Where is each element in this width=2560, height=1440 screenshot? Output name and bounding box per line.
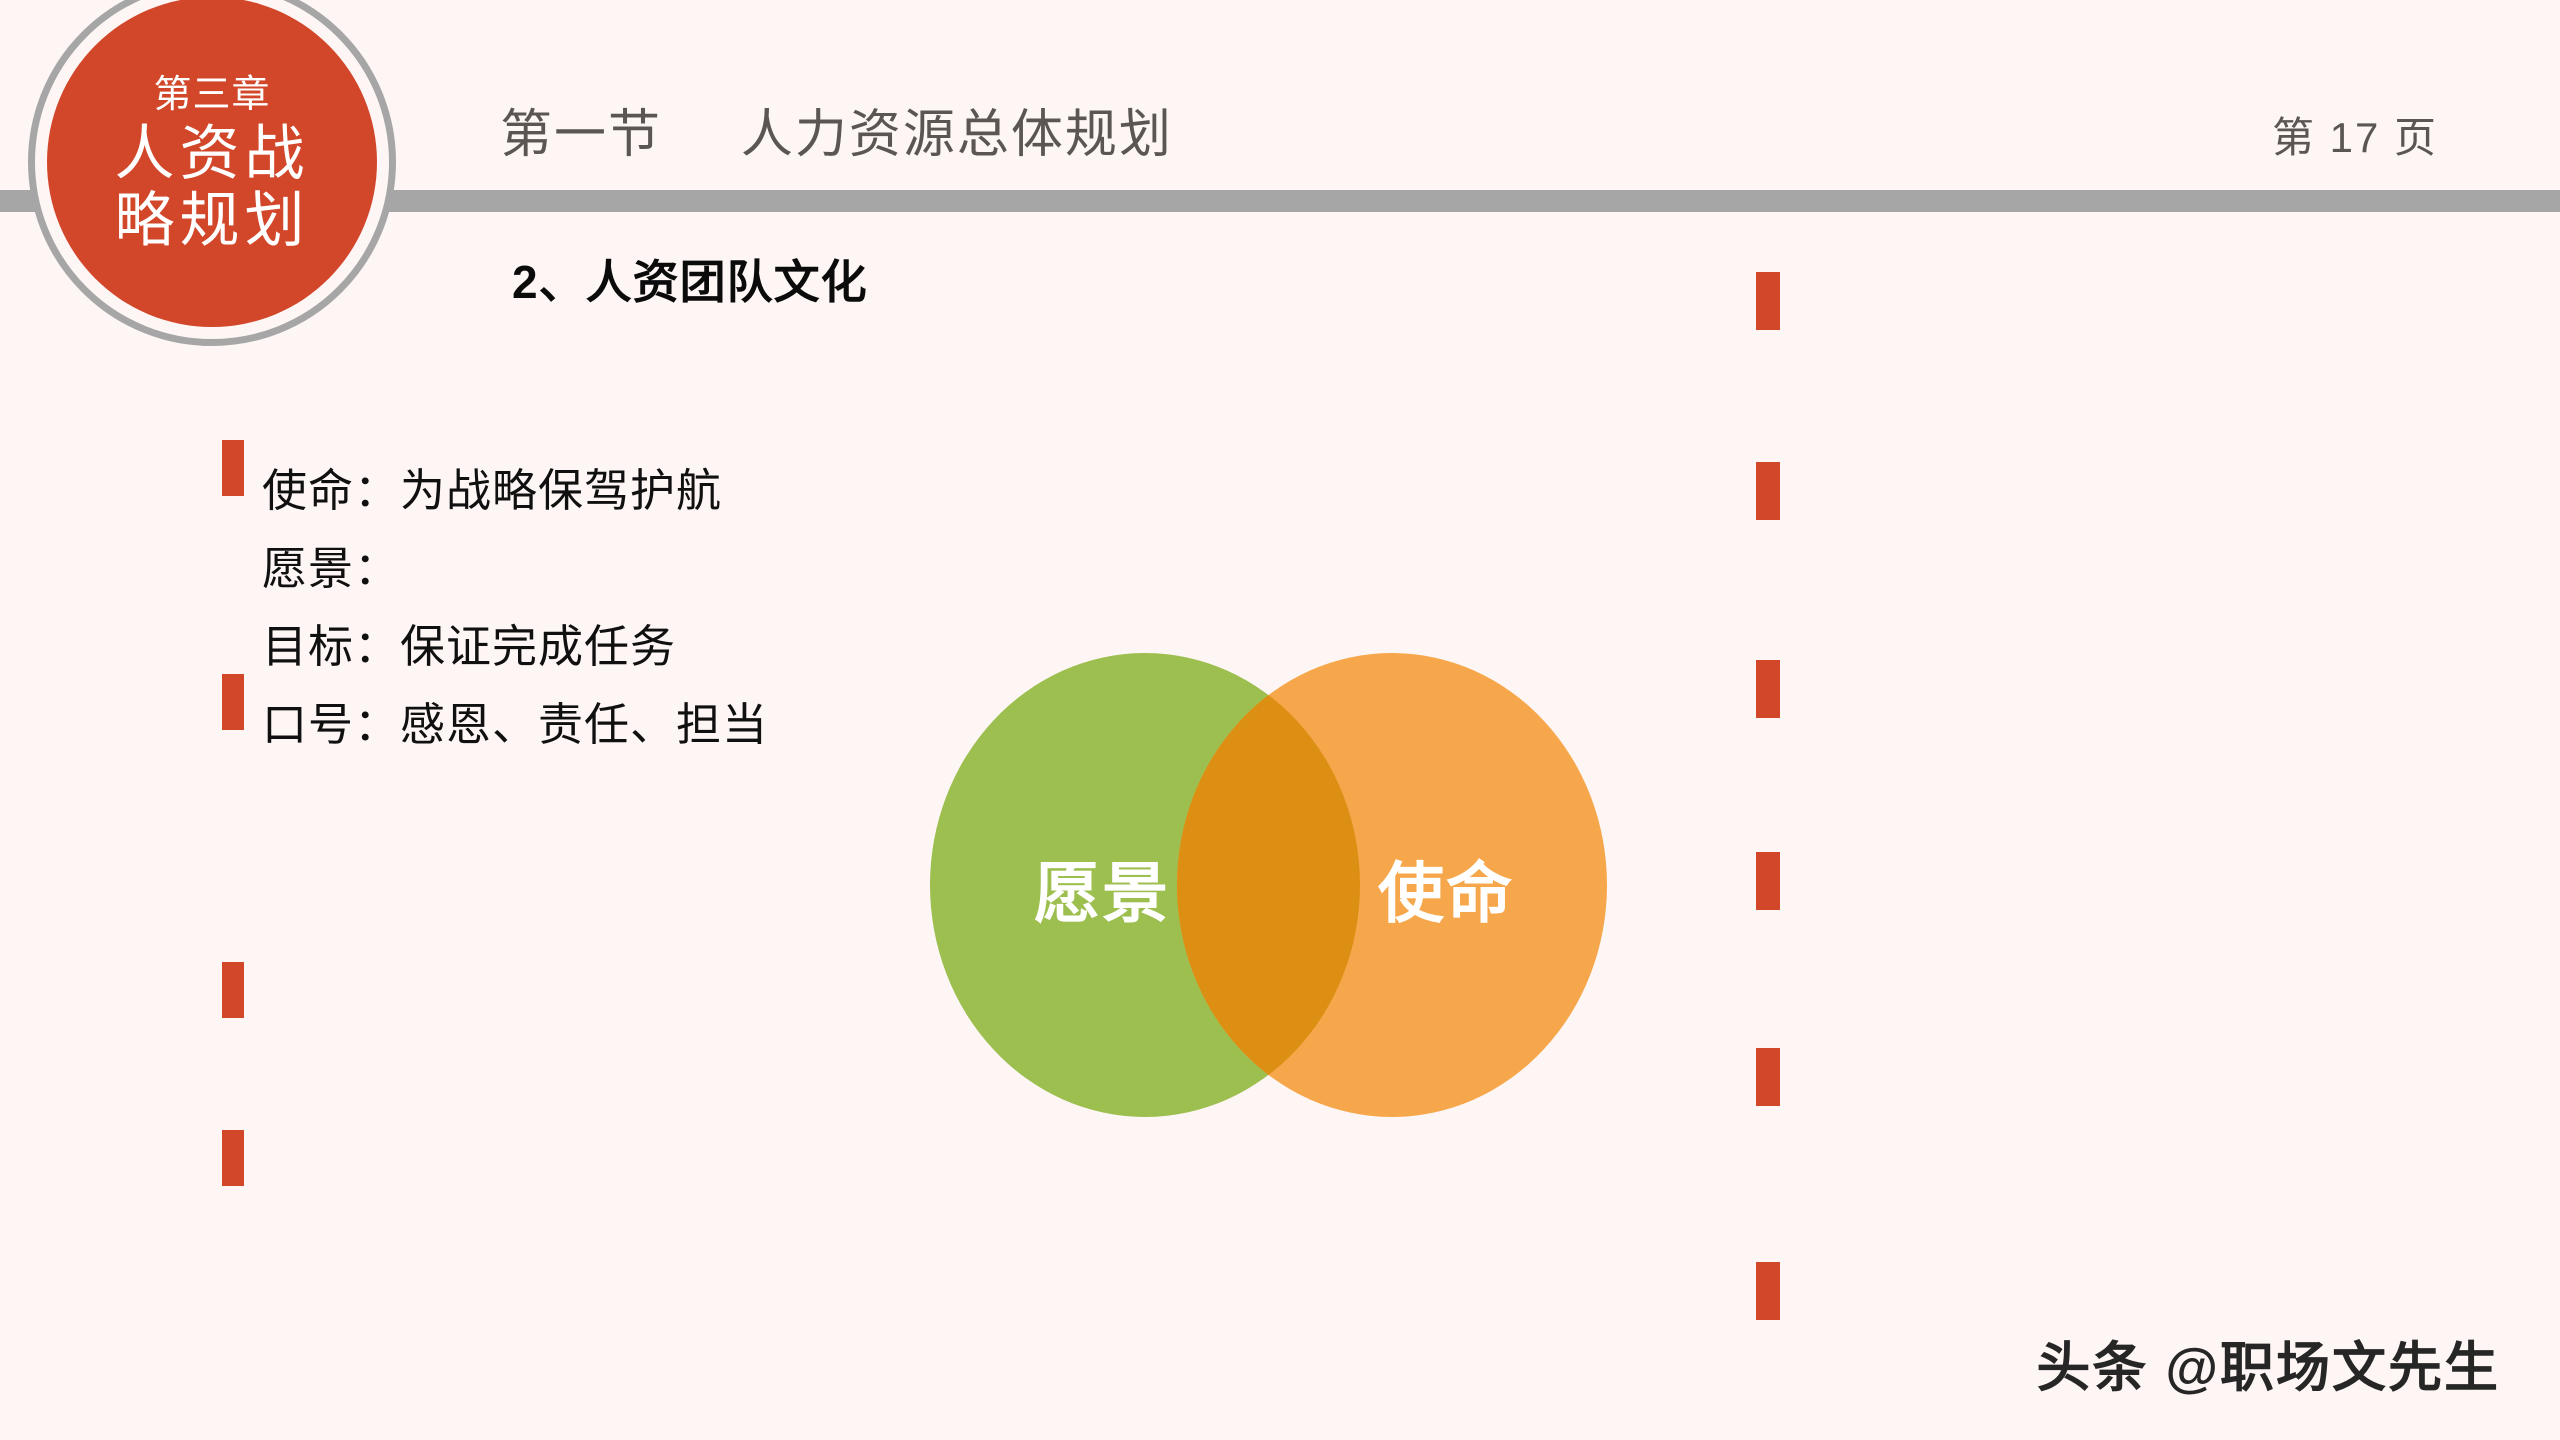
right-dash-mark: [1756, 1262, 1780, 1320]
venn-svg: [900, 650, 1640, 1120]
chapter-badge-disc: 第三章 人资战略规划: [47, 0, 377, 327]
right-dash-mark: [1756, 660, 1780, 718]
venn-label-vision: 愿景: [1034, 840, 1170, 936]
venn-diagram: 愿景 使命: [900, 650, 1640, 1120]
culture-line-vision: 愿景：: [262, 530, 1042, 608]
right-dash-mark: [1756, 852, 1780, 910]
left-dash-mark: [222, 440, 244, 496]
left-dash-mark: [222, 1130, 244, 1186]
right-dash-mark: [1756, 462, 1780, 520]
header-section-title: 人力资源总体规划: [741, 106, 1173, 164]
page-title: 2、人资团队文化: [512, 246, 868, 312]
venn-label-mission: 使命: [1378, 840, 1514, 936]
right-dash-mark: [1756, 1048, 1780, 1106]
left-dash-mark: [222, 674, 244, 730]
chapter-badge-title: 人资战略规划: [87, 120, 337, 254]
slide-canvas: 第三章 人资战略规划 第一节 人力资源总体规划 第 17 页 2、人资团队文化 …: [0, 0, 2560, 1440]
header-title: 第一节 人力资源总体规划: [500, 92, 1173, 167]
chapter-badge: 第三章 人资战略规划: [28, 0, 408, 358]
culture-line-mission: 使命：为战略保驾护航: [262, 452, 1042, 530]
page-number: 第 17 页: [2272, 104, 2438, 165]
left-dash-mark: [222, 962, 244, 1018]
header-section-label: 第一节: [500, 106, 662, 164]
watermark: 头条 @职场文先生: [2036, 1323, 2500, 1402]
right-dash-mark: [1756, 272, 1780, 330]
chapter-badge-number: 第三章: [153, 74, 270, 118]
